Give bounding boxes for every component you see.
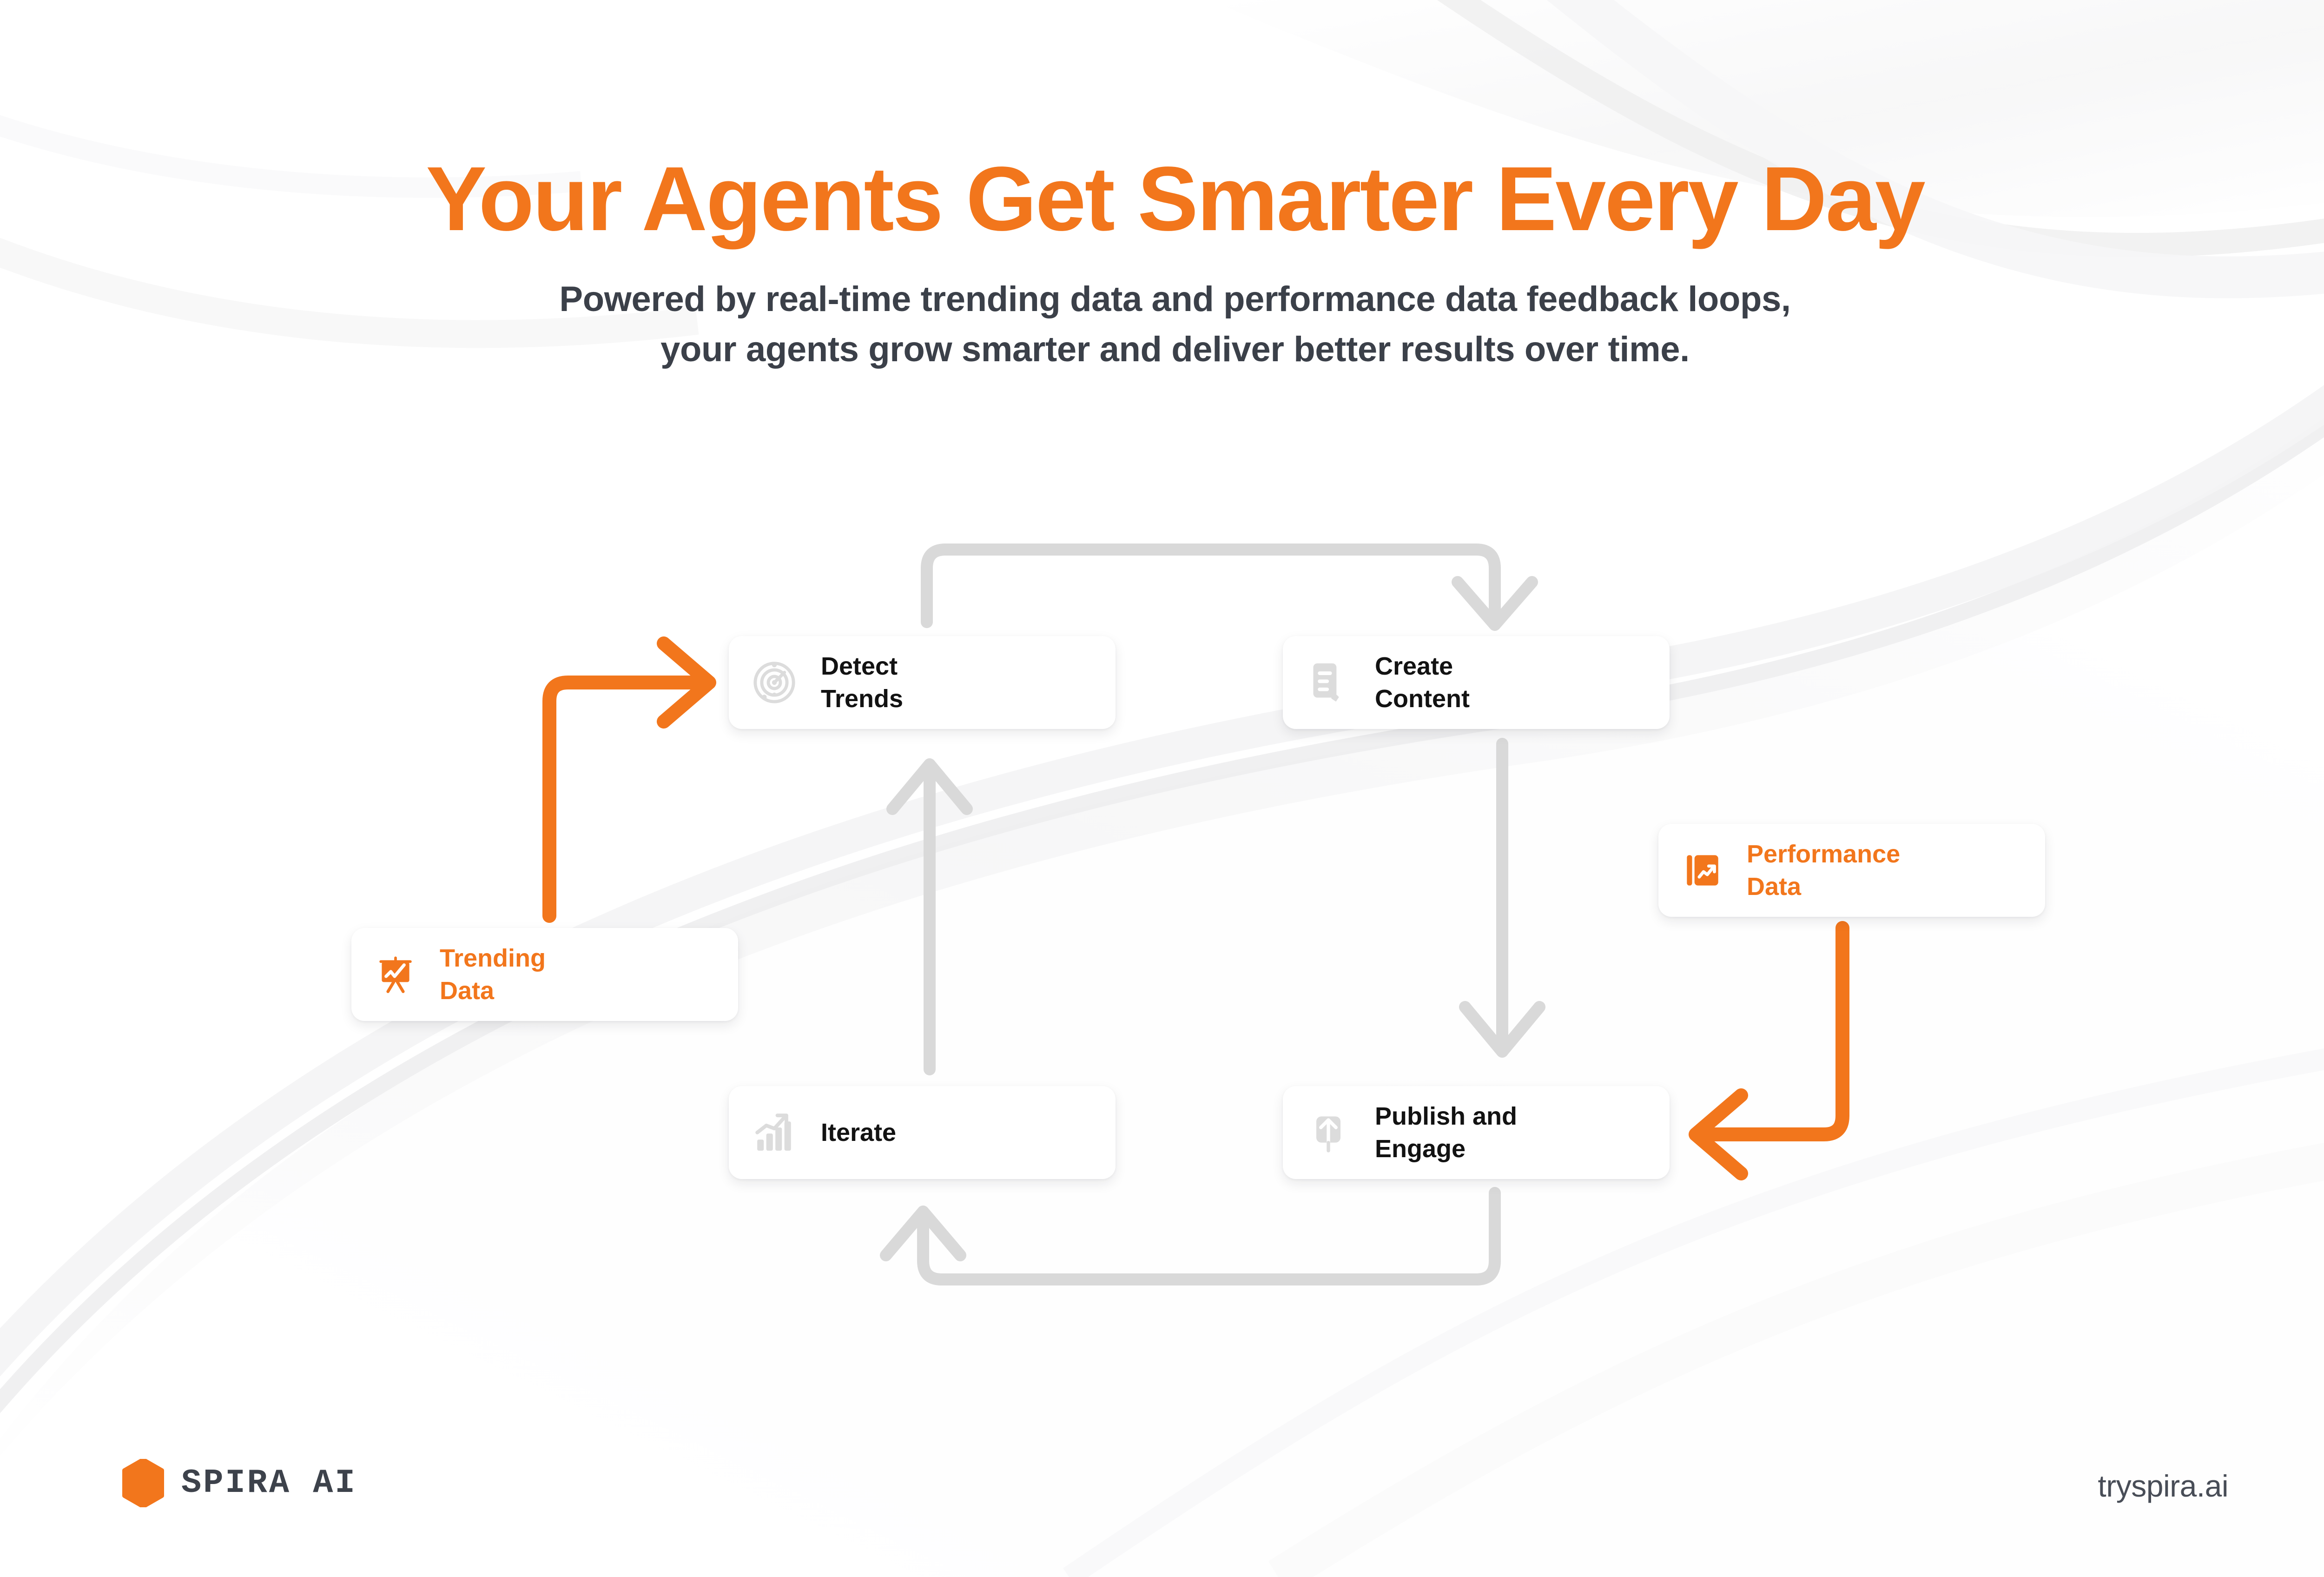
node-detect-trends[interactable]: Detect Trends <box>729 636 1116 729</box>
node-publish-and-engage[interactable]: Publish and Engage <box>1283 1086 1670 1179</box>
node-label: Iterate <box>821 1116 896 1149</box>
header: Your Agents Get Smarter Every Day Powere… <box>0 0 2324 375</box>
bar-chart-arrow-up-icon <box>750 1108 799 1157</box>
node-label: Create Content <box>1375 650 1470 715</box>
node-label: Publish and Engage <box>1375 1100 1517 1165</box>
node-iterate[interactable]: Iterate <box>729 1086 1116 1179</box>
footer: SPIRA AI tryspira.ai <box>0 1419 2324 1577</box>
subtitle-line-1: Powered by real-time trending data and p… <box>559 279 1790 319</box>
page-title: Your Agents Get Smarter Every Day <box>0 0 2324 245</box>
brand-name: SPIRA AI <box>181 1464 357 1502</box>
subtitle-line-2: your agents grow smarter and deliver bet… <box>660 330 1690 369</box>
node-performance-data[interactable]: Performance Data <box>1658 824 2045 917</box>
brand-lockup: SPIRA AI <box>122 1459 357 1507</box>
node-label: Detect Trends <box>821 650 903 715</box>
node-trending-data[interactable]: Trending Data <box>351 928 738 1021</box>
node-label: Performance Data <box>1747 838 1900 903</box>
node-label: Trending Data <box>440 942 546 1007</box>
document-pencil-icon <box>1304 658 1353 707</box>
page-subtitle: Powered by real-time trending data and p… <box>0 245 2324 375</box>
upload-arrow-up-icon <box>1304 1108 1353 1157</box>
poster-canvas: Your Agents Get Smarter Every Day Powere… <box>0 0 2324 1577</box>
radar-target-icon <box>750 658 799 707</box>
site-url: tryspira.ai <box>2098 1468 2228 1504</box>
report-trend-up-icon <box>1680 848 1725 893</box>
node-create-content[interactable]: Create Content <box>1283 636 1670 729</box>
presentation-chart-icon <box>373 952 418 997</box>
hexagon-logo-icon <box>122 1459 165 1507</box>
